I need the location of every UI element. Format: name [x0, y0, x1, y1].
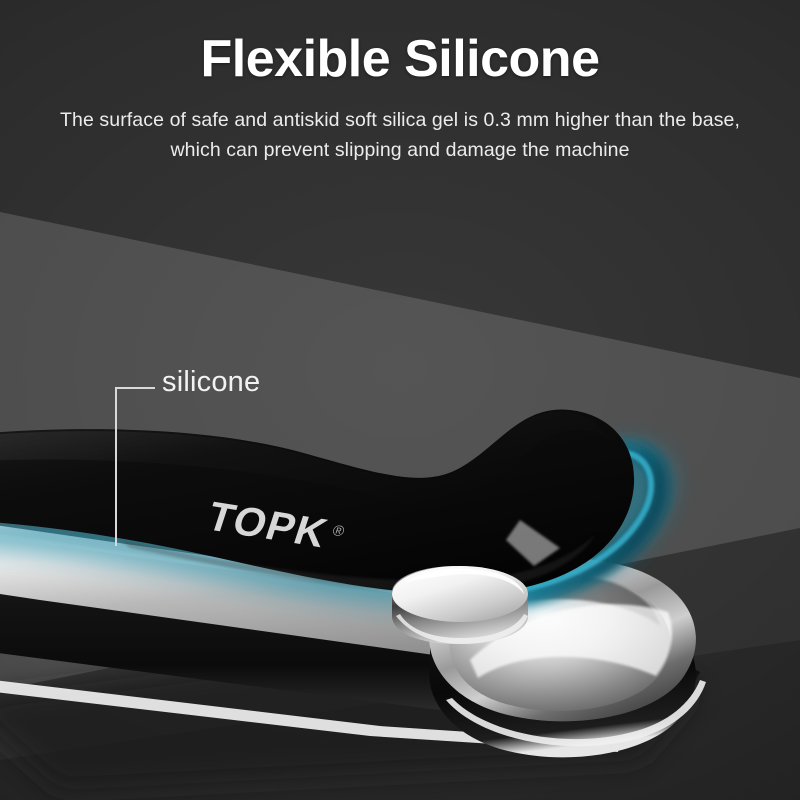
product-feature-image: TOPK ® silicone Flexible Silicone The su…	[0, 0, 800, 800]
header-block: Flexible Silicone The surface of safe an…	[0, 0, 800, 166]
magnet-disc	[392, 566, 528, 644]
page-subtitle: The surface of safe and antiskid soft si…	[0, 87, 800, 165]
subtitle-line-1: The surface of safe and antiskid soft si…	[0, 105, 800, 135]
page-title: Flexible Silicone	[0, 0, 800, 87]
subtitle-line-2: which can prevent slipping and damage th…	[0, 135, 800, 165]
